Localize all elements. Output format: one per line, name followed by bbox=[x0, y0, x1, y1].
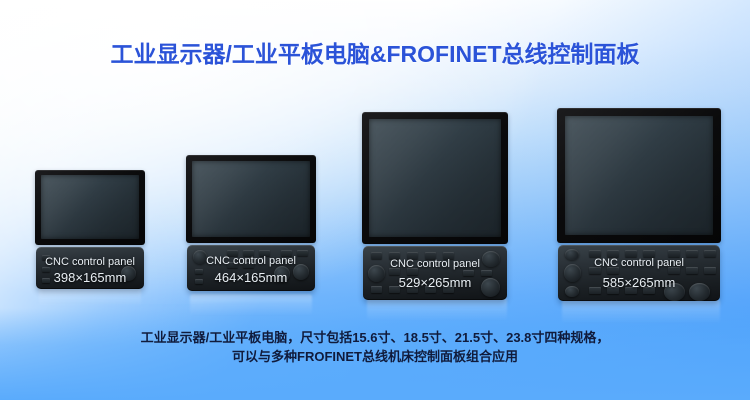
device-1-reflection bbox=[39, 287, 141, 307]
caption-line-2: 可以与多种FROFINET总线机床控制面板组合应用 bbox=[0, 347, 750, 366]
device-4-reflection bbox=[562, 299, 720, 324]
device-4-button-r1c2[interactable] bbox=[607, 250, 619, 257]
device-4-button-r1c5[interactable] bbox=[668, 250, 680, 257]
device-2-panel-name: CNC control panel bbox=[187, 255, 315, 267]
device-4-monitor bbox=[557, 108, 721, 243]
device-3-panel-dims: 529×265mm bbox=[363, 275, 507, 290]
device-4-panel-dims: 585×265mm bbox=[558, 275, 720, 290]
device-4-button-r1c1[interactable] bbox=[589, 250, 601, 257]
device-3-control-panel[interactable]: CNC control panel 529×265mm bbox=[363, 246, 507, 300]
device-3: CNC control panel 529×265mm bbox=[362, 112, 508, 300]
device-1-monitor bbox=[35, 170, 145, 245]
device-3-monitor bbox=[362, 112, 508, 244]
promo-banner: 工业显示器/工业平板电脑&FROFINET总线控制面板 CNC control … bbox=[0, 0, 750, 400]
device-2-screen bbox=[192, 161, 310, 237]
device-2-panel-dims: 464×165mm bbox=[187, 270, 315, 285]
device-4-button-r1c4[interactable] bbox=[643, 250, 655, 257]
device-4-panel-name: CNC control panel bbox=[558, 257, 720, 269]
device-2-control-panel[interactable]: CNC control panel 464×165mm bbox=[187, 245, 315, 291]
device-1-control-panel[interactable]: CNC control panel 398×165mm bbox=[36, 247, 144, 289]
device-4-button-r1c3[interactable] bbox=[625, 250, 637, 257]
device-2-monitor bbox=[186, 155, 316, 243]
caption-line-1: 工业显示器/工业平板电脑，尺寸包括15.6寸、18.5寸、21.5寸、23.8寸… bbox=[0, 328, 750, 347]
device-4: CNC control panel 585×265mm bbox=[557, 108, 721, 301]
caption: 工业显示器/工业平板电脑，尺寸包括15.6寸、18.5寸、21.5寸、23.8寸… bbox=[0, 328, 750, 366]
device-1-screen bbox=[41, 175, 139, 239]
device-2-reflection bbox=[190, 294, 312, 316]
device-1: CNC control panel 398×165mm bbox=[35, 170, 145, 289]
device-4-screen bbox=[565, 116, 713, 235]
device-4-control-panel[interactable]: CNC control panel 585×265mm bbox=[558, 245, 720, 301]
device-4-button-r1c7[interactable] bbox=[704, 250, 716, 257]
device-3-panel-name: CNC control panel bbox=[363, 258, 507, 270]
device-2: CNC control panel 464×165mm bbox=[186, 155, 316, 291]
device-3-screen bbox=[369, 119, 501, 237]
device-1-panel-name: CNC control panel bbox=[36, 256, 144, 268]
page-title: 工业显示器/工业平板电脑&FROFINET总线控制面板 bbox=[0, 35, 750, 69]
device-3-reflection bbox=[367, 297, 507, 321]
device-4-button-r1c6[interactable] bbox=[686, 250, 698, 257]
device-1-panel-dims: 398×165mm bbox=[36, 270, 144, 285]
